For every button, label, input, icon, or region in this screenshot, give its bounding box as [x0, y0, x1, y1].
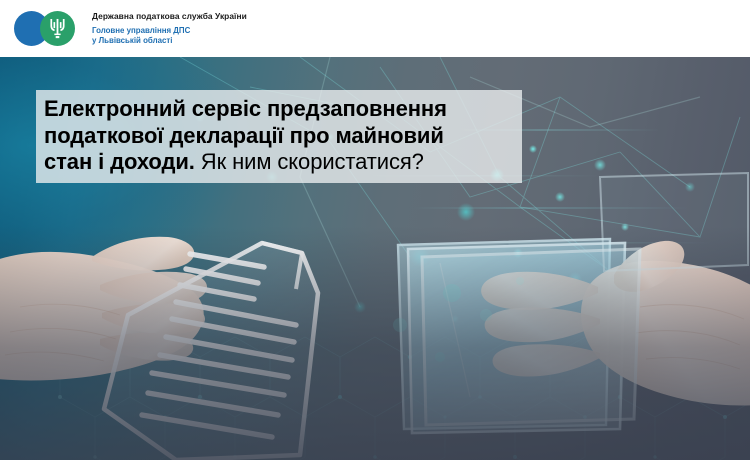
logo[interactable] — [14, 10, 84, 47]
hero-title-line-3-normal: Як ним скористатися? — [201, 149, 424, 174]
ukrainian-trident-icon — [49, 18, 66, 39]
hero-title-line-1: Електронний сервіс предзаповнення — [44, 96, 512, 123]
department-line-2: у Львівській області — [92, 36, 247, 46]
hero-banner: Електронний сервіс предзаповнення податк… — [0, 57, 750, 460]
brand-text: Державна податкова служба України Головн… — [84, 11, 247, 45]
hero-title-line-3-bold: стан і доходи. — [44, 149, 195, 174]
hero-title-line-2-text: податкової декларації про майновий — [44, 123, 444, 148]
department-line-1: Головне управління ДПС — [92, 26, 247, 36]
organization-name: Державна податкова служба України — [92, 11, 247, 22]
hero-title-line-3: стан і доходи. Як ним скористатися? — [44, 149, 512, 176]
brand[interactable]: Державна податкова служба України Головн… — [0, 10, 247, 47]
logo-circle-green — [40, 11, 75, 46]
hero-title-line-2: податкової декларації про майновий — [44, 123, 512, 150]
hero-title-block: Електронний сервіс предзаповнення податк… — [36, 90, 522, 183]
hero-title-line-1-text: Електронний сервіс предзаповнення — [44, 96, 447, 121]
site-header: Державна податкова служба України Головн… — [0, 0, 750, 57]
